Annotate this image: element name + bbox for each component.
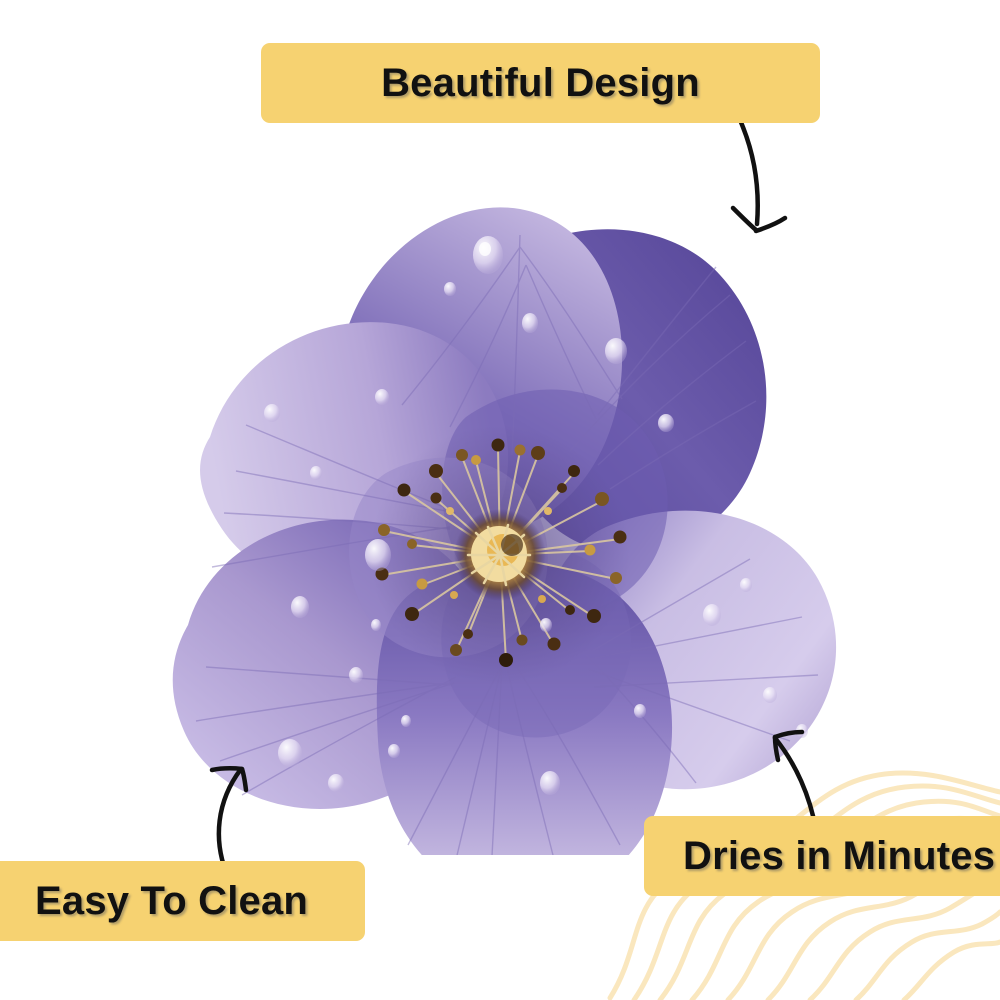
flower-image xyxy=(150,155,850,855)
flower-center-core xyxy=(454,509,546,601)
feature-badge-label: Beautiful Design xyxy=(381,61,700,106)
feature-badge-easy-to-clean[interactable]: Easy To Clean xyxy=(0,861,365,941)
feature-badge-label: Dries in Minutes xyxy=(683,834,995,879)
feature-badge-dries-in-minutes[interactable]: Dries in Minutes xyxy=(644,816,1000,896)
product-feature-graphic: Beautiful Design Easy To Clean Dries in … xyxy=(0,0,1000,1000)
feature-badge-label: Easy To Clean xyxy=(35,879,308,924)
feature-badge-beautiful-design[interactable]: Beautiful Design xyxy=(261,43,820,123)
purple-flower-illustration xyxy=(150,155,850,855)
